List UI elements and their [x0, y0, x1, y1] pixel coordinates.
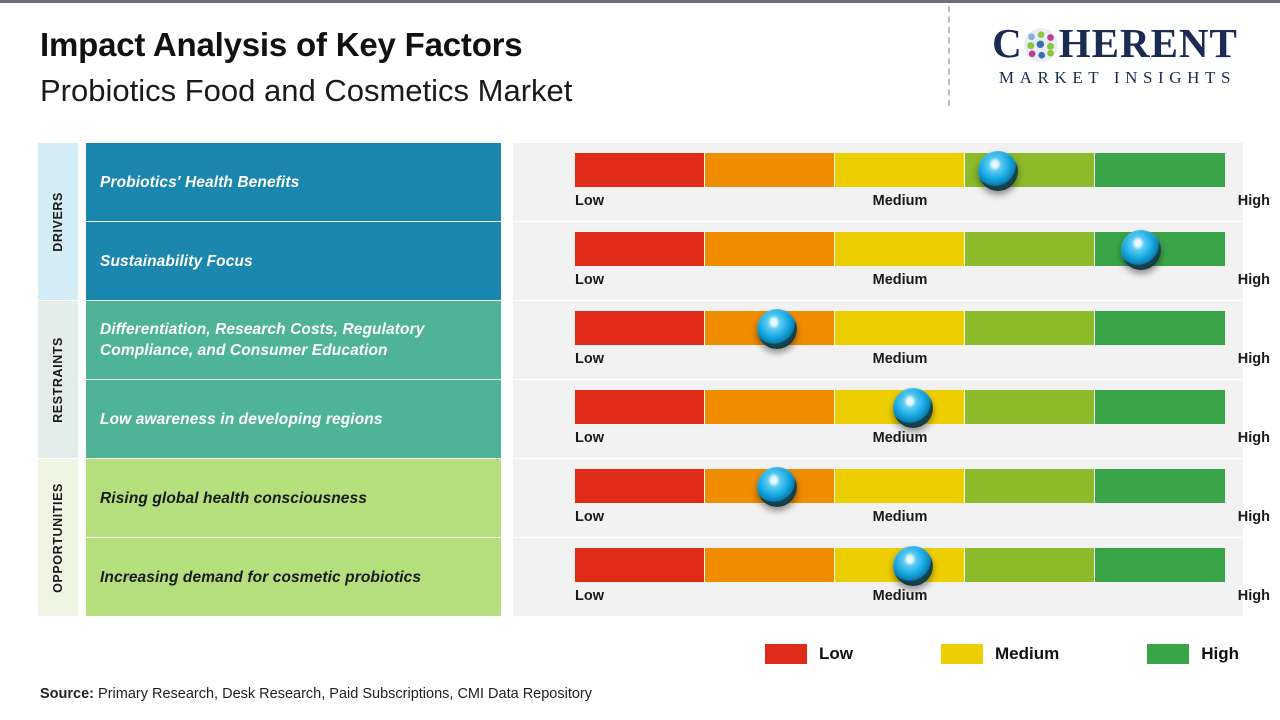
gauge-bar	[575, 311, 1225, 345]
gauge-bar	[575, 153, 1225, 187]
page-subtitle: Probiotics Food and Cosmetics Market	[40, 68, 572, 114]
scale-label-medium: Medium	[873, 193, 928, 209]
gauge-segment-5	[1095, 548, 1225, 582]
top-divider	[0, 0, 1280, 3]
scale-label-low: Low	[575, 588, 604, 604]
gauge-scale: LowMediumHigh	[575, 582, 1225, 612]
factor-label: Increasing demand for cosmetic probiotic…	[100, 567, 421, 588]
scale-label-low: Low	[575, 430, 604, 446]
scale-label-medium: Medium	[873, 351, 928, 367]
slide: Impact Analysis of Key Factors Probiotic…	[0, 0, 1280, 720]
factor-row: Sustainability FocusLowMediumHigh	[38, 222, 1243, 300]
legend-label: Low	[819, 644, 853, 664]
scale-label-high: High	[1238, 193, 1270, 209]
impact-marker-icon[interactable]	[893, 546, 933, 586]
factor-row: Rising global health consciousnessLowMed…	[38, 459, 1243, 537]
gauge-segment-5	[1095, 153, 1225, 187]
gauge-segment-1	[575, 469, 705, 503]
scale-label-low: Low	[575, 272, 604, 288]
logo-letter-c: C	[992, 20, 1023, 66]
gauge-segment-1	[575, 548, 705, 582]
scale-label-high: High	[1238, 272, 1270, 288]
gauge-bar	[575, 469, 1225, 503]
page-title: Impact Analysis of Key Factors	[40, 22, 572, 68]
gauge-segment-3	[835, 311, 965, 345]
factor-row: Differentiation, Research Costs, Regulat…	[38, 301, 1243, 379]
gauge-segment-3	[835, 153, 965, 187]
logo-tagline: MARKET INSIGHTS	[965, 68, 1265, 88]
gauge-segment-4	[965, 232, 1095, 266]
gauge-segment-1	[575, 232, 705, 266]
legend: LowMediumHigh	[765, 644, 1239, 664]
logo-letters-herent: HERENT	[1059, 20, 1238, 66]
factor-box[interactable]: Probiotics' Health Benefits	[86, 143, 501, 221]
factor-row: Increasing demand for cosmetic probiotic…	[38, 538, 1243, 616]
source-prefix: Source:	[40, 686, 94, 702]
gauge-scale: LowMediumHigh	[575, 503, 1225, 533]
scale-label-low: Low	[575, 509, 604, 525]
gauge-segment-3	[835, 232, 965, 266]
gauge-segment-2	[705, 548, 835, 582]
impact-gauge: LowMediumHigh	[513, 459, 1243, 537]
factor-label: Sustainability Focus	[100, 251, 253, 272]
factor-row: Low awareness in developing regionsLowMe…	[38, 380, 1243, 458]
gauge-segment-3	[835, 469, 965, 503]
gauge-segment-4	[965, 548, 1095, 582]
gauge-scale: LowMediumHigh	[575, 266, 1225, 296]
gauge-scale: LowMediumHigh	[575, 345, 1225, 375]
impact-marker-icon[interactable]	[893, 388, 933, 428]
scale-label-low: Low	[575, 193, 604, 209]
scale-label-low: Low	[575, 351, 604, 367]
logo-wordmark: C HERENT	[965, 20, 1265, 66]
impact-marker-icon[interactable]	[978, 151, 1018, 191]
gauge-segment-5	[1095, 311, 1225, 345]
gauge-scale: LowMediumHigh	[575, 187, 1225, 217]
legend-swatch	[1147, 644, 1189, 664]
impact-gauge: LowMediumHigh	[513, 301, 1243, 379]
header: Impact Analysis of Key Factors Probiotic…	[40, 22, 572, 114]
legend-item: Low	[765, 644, 853, 664]
scale-label-medium: Medium	[873, 509, 928, 525]
legend-item: High	[1147, 644, 1239, 664]
factor-box[interactable]: Low awareness in developing regions	[86, 380, 501, 458]
factor-label: Differentiation, Research Costs, Regulat…	[100, 319, 487, 361]
impact-gauge: LowMediumHigh	[513, 538, 1243, 616]
impact-marker-icon[interactable]	[757, 309, 797, 349]
scale-label-high: High	[1238, 509, 1270, 525]
factor-label: Rising global health consciousness	[100, 488, 367, 509]
impact-gauge: LowMediumHigh	[513, 380, 1243, 458]
gauge-segment-2	[705, 232, 835, 266]
impact-marker-icon[interactable]	[757, 467, 797, 507]
factor-box[interactable]: Differentiation, Research Costs, Regulat…	[86, 301, 501, 379]
legend-swatch	[765, 644, 807, 664]
factor-box[interactable]: Rising global health consciousness	[86, 459, 501, 537]
legend-swatch	[941, 644, 983, 664]
legend-label: Medium	[995, 644, 1059, 664]
scale-label-medium: Medium	[873, 430, 928, 446]
factor-row: Probiotics' Health BenefitsLowMediumHigh	[38, 143, 1243, 221]
scale-label-medium: Medium	[873, 272, 928, 288]
gauge-segment-1	[575, 153, 705, 187]
scale-label-high: High	[1238, 351, 1270, 367]
impact-marker-icon[interactable]	[1121, 230, 1161, 270]
source-text: Primary Research, Desk Research, Paid Su…	[98, 686, 592, 702]
factor-label: Probiotics' Health Benefits	[100, 172, 299, 193]
gauge-segment-4	[965, 469, 1095, 503]
scale-label-high: High	[1238, 588, 1270, 604]
gauge-segment-2	[705, 153, 835, 187]
gauge-segment-1	[575, 390, 705, 424]
factor-box[interactable]: Sustainability Focus	[86, 222, 501, 300]
gauge-segment-5	[1095, 469, 1225, 503]
legend-label: High	[1201, 644, 1239, 664]
scale-label-high: High	[1238, 430, 1270, 446]
impact-gauge: LowMediumHigh	[513, 143, 1243, 221]
dotted-globe-icon	[1024, 28, 1058, 62]
impact-matrix: DRIVERSRESTRAINTSOPPORTUNITIES Probiotic…	[38, 143, 1243, 617]
impact-gauge: LowMediumHigh	[513, 222, 1243, 300]
factor-label: Low awareness in developing regions	[100, 409, 383, 430]
legend-item: Medium	[941, 644, 1059, 664]
gauge-segment-2	[705, 390, 835, 424]
gauge-scale: LowMediumHigh	[575, 424, 1225, 454]
gauge-segment-4	[965, 390, 1095, 424]
gauge-segment-1	[575, 311, 705, 345]
logo-divider	[948, 6, 950, 106]
factor-box[interactable]: Increasing demand for cosmetic probiotic…	[86, 538, 501, 616]
gauge-segment-5	[1095, 390, 1225, 424]
source-note: Source: Primary Research, Desk Research,…	[40, 686, 592, 702]
gauge-segment-4	[965, 311, 1095, 345]
scale-label-medium: Medium	[873, 588, 928, 604]
company-logo: C HERENT MARKET INSIGHTS	[965, 20, 1265, 88]
